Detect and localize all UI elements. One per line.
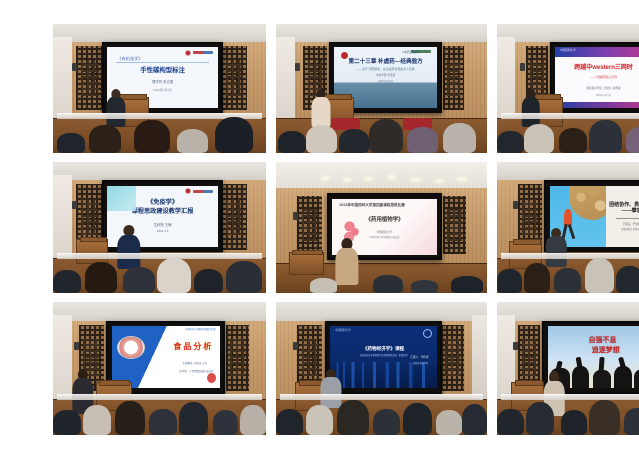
slide-subtitle: 追逐梦想 bbox=[592, 347, 620, 355]
lattice-panel-left bbox=[76, 46, 104, 111]
photo-cell-4: 《免疫学》 课程思政建设教学汇报 生科院 王峥 2024.1.4 bbox=[53, 162, 266, 293]
photo-cell-6: 团结协作、勇攀高峰——攀岩 王晓东、严文静 中国药科大学体育部 bbox=[497, 162, 639, 293]
climber-leg-icon bbox=[568, 224, 576, 239]
university-logo-icon bbox=[185, 188, 213, 194]
audience bbox=[53, 395, 266, 435]
photo-cell-2: 《中药药理学》 第二十三章 补虚药—经典验方 ——基于“阴阳调和、扶正祛邪”的思… bbox=[276, 24, 487, 153]
slide-title: 第二十三章 补虚药—经典验方 bbox=[348, 59, 422, 65]
wall-speaker-icon bbox=[293, 342, 298, 350]
wall-speaker-icon bbox=[72, 63, 77, 71]
slide-course-label: 《有机化学》 bbox=[117, 56, 142, 61]
slide-presenter: 中药学院 李思蓓 bbox=[376, 74, 395, 77]
slide-decoration bbox=[107, 186, 136, 212]
projection-screen: 中国药科大学 跨越中western三网时 ——巧解药架之不同 国际医药学院 王欣… bbox=[550, 42, 639, 113]
slide-content: 中国药科大学 跨越中western三网时 ——巧解药架之不同 国际医药学院 王欣… bbox=[555, 47, 639, 107]
seal-icon bbox=[207, 373, 216, 383]
wall-speaker-icon bbox=[513, 342, 518, 350]
audience bbox=[497, 114, 639, 153]
lattice-panel-right bbox=[221, 46, 247, 111]
photo-cell-3: 中国药科大学 跨越中western三网时 ——巧解药架之不同 国际医药学院 王欣… bbox=[497, 24, 639, 153]
photo-cell-1: 《有机化学》 手性碳构型标注 理学院 朱志国 2024年1月4日 bbox=[53, 24, 266, 153]
food-plate-icon bbox=[118, 337, 144, 358]
audience bbox=[497, 254, 639, 293]
slide-date: 中药学院 中药资源系 戚文岳 bbox=[370, 236, 400, 239]
slide-presenter: 汇报人：李伟博 bbox=[410, 356, 428, 359]
slide-date: 2024年1月4日 bbox=[596, 94, 611, 97]
slide-date: 国际医药商学院 bbox=[413, 363, 428, 366]
lattice-panel-right bbox=[226, 325, 249, 392]
projection-screen: 中国药科大学 《药物经济学》课程 全国高校青年教师教学竞赛课程思政组 · 参赛说… bbox=[325, 321, 443, 394]
slide-text-block: 团结协作、勇攀高峰——攀岩 王晓东、严文静 中国药科大学体育部 bbox=[606, 186, 639, 247]
university-logo-icon bbox=[185, 50, 213, 56]
slide-course-label: 《免疫学》 bbox=[147, 199, 178, 206]
lattice-panel-right bbox=[443, 46, 464, 111]
slide-course-label: 2023年中国药科大学第四届课程思政比赛 bbox=[339, 203, 405, 207]
slide-course-label: 中国药科大学 bbox=[335, 329, 351, 332]
slide-footer-bar bbox=[555, 102, 639, 108]
lattice-panel-right bbox=[221, 184, 247, 250]
audience bbox=[276, 272, 487, 293]
slide-date: 2024年1月4日 bbox=[153, 89, 172, 93]
slide-title: 跨越中western三网时 bbox=[574, 65, 633, 72]
wall-speaker-icon bbox=[74, 342, 79, 350]
slide-title: 手性碳构型标注 bbox=[140, 67, 185, 74]
slide-subtitle: 全国高校青年教师教学竞赛课程思政组 · 参赛说明 bbox=[360, 355, 408, 358]
audience bbox=[53, 114, 266, 153]
slide-course-label: 中国药科大学 bbox=[560, 49, 576, 52]
ceiling bbox=[276, 162, 487, 191]
slide-course-label: 中国药科大学课程思政教学比赛 bbox=[185, 329, 216, 332]
audience bbox=[497, 395, 639, 435]
photo-grid: 《有机化学》 手性碳构型标注 理学院 朱志国 2024年1月4日 bbox=[0, 0, 639, 452]
slide-presenter: 王晓东、严文静 bbox=[623, 223, 639, 226]
lattice-panel-right bbox=[441, 325, 464, 392]
slide-title: 自强不息 bbox=[589, 337, 617, 345]
photo-cell-9: 自强不息 追逐梦想 bbox=[497, 302, 639, 435]
slide-title: 食品分析 bbox=[173, 342, 213, 351]
wall-speaker-icon bbox=[293, 212, 298, 220]
lattice-panel-left bbox=[297, 196, 322, 254]
lattice-panel-right bbox=[443, 196, 466, 254]
slide-presenter: 主讲教师：张全亮 王丹 bbox=[182, 362, 207, 365]
photo-cell-8: 中国药科大学 《药物经济学》课程 全国高校青年教师教学竞赛课程思政组 · 参赛说… bbox=[276, 302, 487, 435]
slide-date: 2024年1月4日 bbox=[378, 80, 393, 83]
slide-presenter: 生科院 王峥 bbox=[154, 223, 172, 227]
slide-title: 团结协作、勇攀高峰——攀岩 bbox=[609, 202, 639, 215]
wall-speaker-icon bbox=[520, 63, 525, 71]
wall-speaker-icon bbox=[295, 63, 300, 71]
slide-rule bbox=[616, 218, 639, 219]
slide-title: 《药物经济学》课程 bbox=[363, 346, 404, 351]
slide-course-label: 《中药药理学》 bbox=[401, 51, 422, 55]
audience bbox=[276, 395, 487, 435]
slide-subtitle: ——巧解药架之不同 bbox=[590, 76, 617, 80]
slide-rule bbox=[116, 62, 209, 63]
wall-speaker-icon bbox=[72, 201, 77, 209]
slide-presenter: 国际医药学院 王欣然 / 赵晓敏 bbox=[587, 87, 621, 90]
slide-date: 2024.1.4 bbox=[157, 230, 169, 234]
slide-presenter: 中国药科大学 bbox=[377, 231, 393, 234]
photo-cell-7: 中国药科大学课程思政教学比赛 食品分析 主讲教师：张全亮 王丹 工作单位：工学院… bbox=[53, 302, 266, 435]
photo-cell-5: 2023年中国药科大学第四届课程思政比赛 《药用植物学》 中国药科大学 中药学院… bbox=[276, 162, 487, 293]
slide-title: 《药用植物学》 bbox=[366, 217, 404, 223]
audience bbox=[276, 114, 487, 153]
slide-presenter: 理学院 朱志国 bbox=[152, 80, 173, 84]
wall-speaker-icon bbox=[513, 201, 518, 209]
slide-content: 中国药科大学 《药物经济学》课程 全国高校青年教师教学竞赛课程思政组 · 参赛说… bbox=[330, 326, 437, 388]
audience bbox=[53, 254, 266, 293]
slide-title: 课程思政建设教学汇报 bbox=[132, 208, 194, 215]
climbing-wall-icon bbox=[569, 186, 606, 220]
slide-subtitle: ——基于“阴阳调和、扶正祛邪”的思政育人实践 bbox=[357, 68, 415, 71]
slide-date: 中国药科大学体育部 bbox=[621, 228, 639, 231]
university-logo-icon bbox=[423, 329, 432, 338]
slide-content: 中国药科大学课程思政教学比赛 食品分析 主讲教师：张全亮 王丹 工作单位：工学院… bbox=[112, 326, 220, 388]
